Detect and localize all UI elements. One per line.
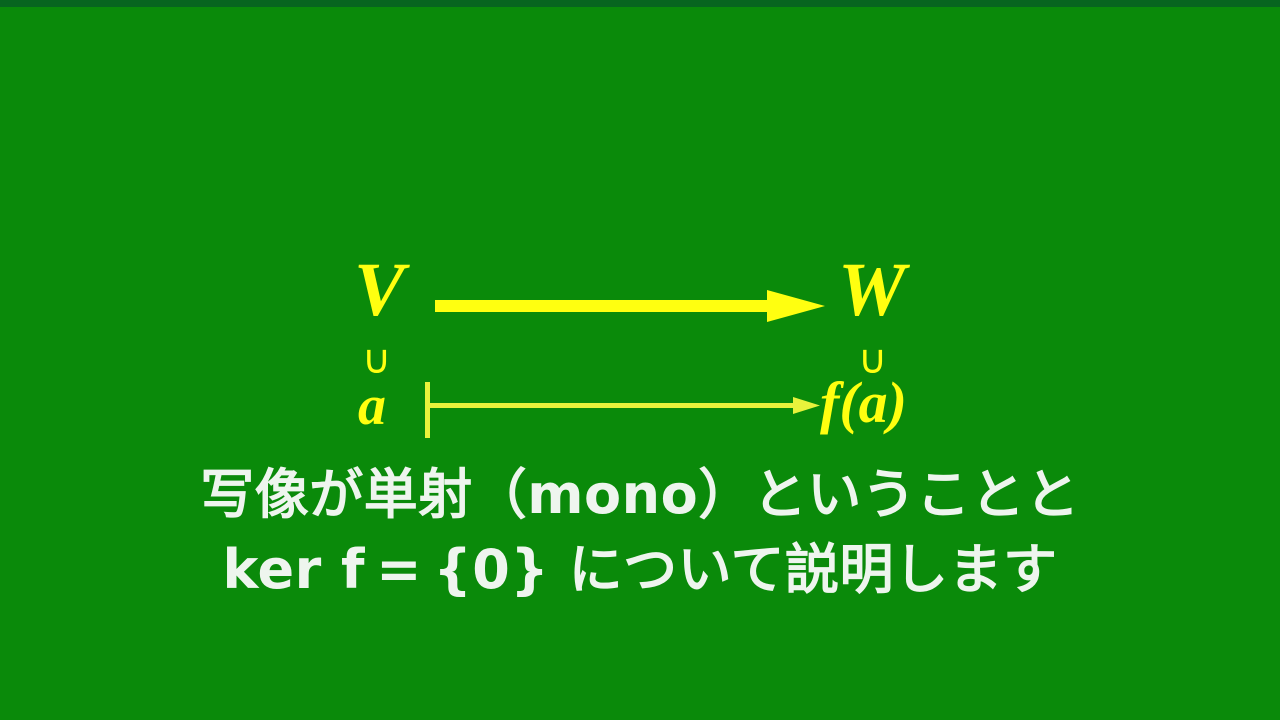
caption-line-1: 写像が単射（mono）ということと: [0, 458, 1280, 533]
membership-symbol-left: ∪: [362, 340, 391, 380]
arrow-right-icon: [435, 288, 825, 324]
diagram-node-source-space: V: [354, 252, 405, 328]
diagram-node-source-element: a: [358, 378, 386, 434]
diagram-node-target-space: W: [838, 252, 906, 328]
slide-canvas: V W ∪ ∪ a f(a) 写像が単射（mono）ということと ker f =…: [0, 0, 1280, 720]
top-edge-band: [0, 0, 1280, 7]
diagram-node-target-element: f(a): [820, 374, 907, 432]
maps-to-arrow-icon: [425, 378, 820, 438]
caption-text: 写像が単射（mono）ということと ker f = {0} について説明します: [0, 458, 1280, 607]
caption-line-2: ker f = {0} について説明します: [0, 533, 1280, 608]
commutative-diagram: V W ∪ ∪ a f(a): [330, 252, 950, 452]
